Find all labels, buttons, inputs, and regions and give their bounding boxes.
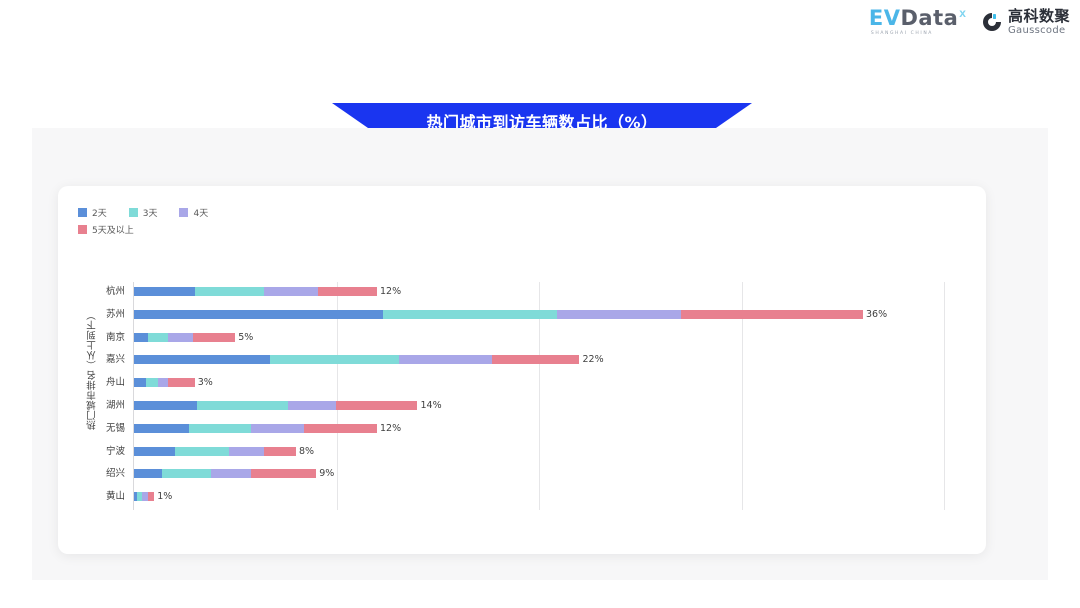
- legend-label: 5天及以上: [92, 223, 134, 236]
- legend-label: 4天: [193, 206, 208, 219]
- gausscode-wordmark: 高科数聚 Gausscode: [1008, 9, 1070, 36]
- evdata-logo-data: Data: [900, 8, 958, 29]
- evdata-logo-subtitle: SHANGHAI CHINA: [871, 31, 933, 36]
- y-axis-title: 热门城市排名（从上到下）: [86, 310, 102, 430]
- evdata-logo-ev: EV: [869, 8, 901, 29]
- evdata-cross-icon: x: [959, 6, 966, 20]
- gausscode-mark-icon: [982, 12, 1002, 32]
- slide-root: EV Data x SHANGHAI CHINA 高科数聚 Gausscode …: [0, 0, 1080, 608]
- legend-swatch-icon: [78, 208, 87, 217]
- legend-item-3[interactable]: 5天及以上: [78, 223, 134, 236]
- legend-swatch-icon: [179, 208, 188, 217]
- evdata-logo: EV Data x SHANGHAI CHINA: [869, 8, 966, 36]
- gausscode-cn: 高科数聚: [1008, 9, 1070, 24]
- legend-swatch-icon: [78, 225, 87, 234]
- evdata-logo-row: EV Data x: [869, 8, 966, 29]
- chart-legend: 2天3天4天5天及以上: [78, 206, 378, 240]
- chart-card: [58, 186, 986, 554]
- legend-item-2[interactable]: 4天: [179, 206, 208, 219]
- legend-item-1[interactable]: 3天: [129, 206, 158, 219]
- legend-label: 2天: [92, 206, 107, 219]
- header-logo-bar: EV Data x SHANGHAI CHINA 高科数聚 Gausscode: [869, 8, 1070, 36]
- legend-item-0[interactable]: 2天: [78, 206, 107, 219]
- gausscode-en: Gausscode: [1008, 26, 1070, 36]
- gausscode-logo: 高科数聚 Gausscode: [982, 9, 1070, 36]
- legend-label: 3天: [143, 206, 158, 219]
- legend-swatch-icon: [129, 208, 138, 217]
